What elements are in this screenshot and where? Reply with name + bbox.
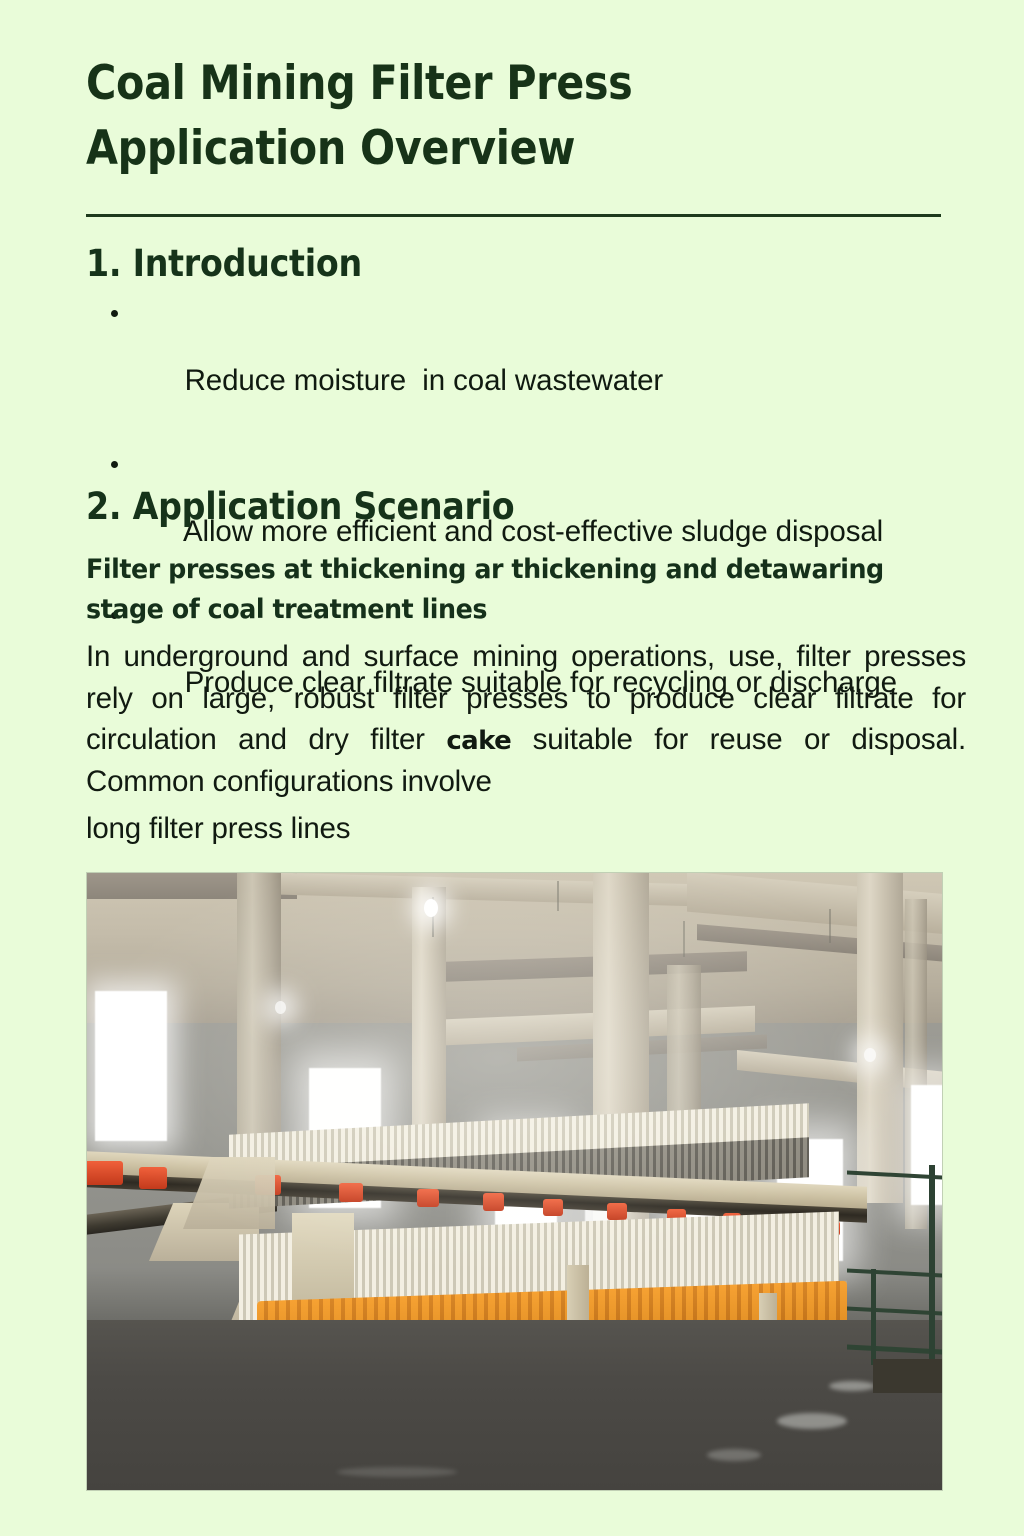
- section-heading-introduction: 1. Introduction: [86, 242, 362, 285]
- application-scenario-paragraph: In underground and surface mining operat…: [86, 636, 966, 802]
- title-divider: [86, 214, 941, 217]
- bullet-dot-icon: [111, 310, 118, 317]
- application-scenario-paragraph-tail: long filter press lines: [86, 808, 966, 850]
- page-title-line-2: Application Overview: [86, 117, 860, 182]
- list-item: Reduce moisture in coal wastewater: [108, 298, 988, 430]
- page-title: Coal Mining Filter Press Application Ove…: [86, 52, 860, 182]
- page-title-line-1: Coal Mining Filter Press: [86, 52, 860, 117]
- photo-haze-overlay: [87, 873, 942, 1490]
- poster-page: Coal Mining Filter Press Application Ove…: [0, 0, 1024, 1536]
- paragraph-emphasis-cake: cake: [446, 726, 511, 756]
- photo-scene: [87, 873, 942, 1490]
- bullet-dot-icon: [111, 461, 118, 468]
- application-scenario-lead: Filter presses at thickening ar thickeni…: [86, 550, 923, 629]
- filter-press-photo: [87, 873, 942, 1490]
- bullet-text: Reduce moisture in coal wastewater: [185, 364, 664, 397]
- section-heading-application-scenario: 2. Application Scenario: [86, 485, 514, 528]
